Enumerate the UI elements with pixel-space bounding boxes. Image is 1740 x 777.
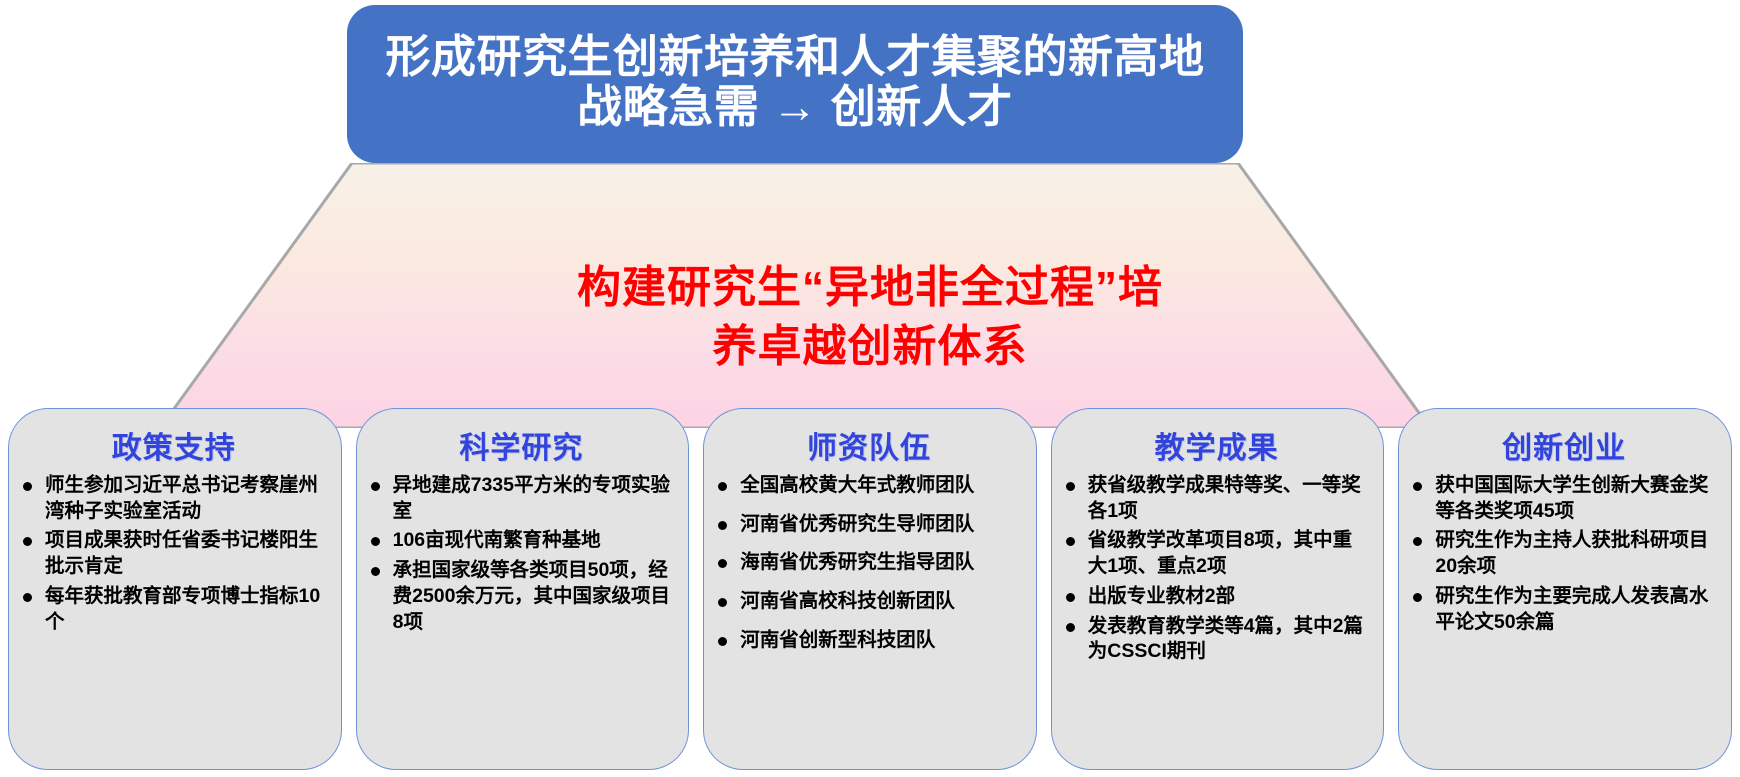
bullet-dot-icon (718, 637, 727, 646)
list-item-text: 获省级教学成果特等奖、一等奖各1项 (1088, 474, 1361, 522)
headline: 构建研究生“异地非全过程”培 养卓越创新体系 (370, 258, 1370, 377)
list-item-text: 每年获批教育部专项博士指标10个 (45, 585, 320, 633)
list-item: 河南省高校科技创新团队 (716, 589, 1022, 615)
list-item: 异地建成7335平方米的专项实验室 (369, 473, 675, 524)
card-policy-support[interactable]: 政策支持 师生参加习近平总书记考察崖州湾种子实验室活动 项目成果获时任省委书记楼… (8, 408, 342, 770)
list-item: 承担国家级等各类项目50项，经费2500余万元，其中国家级项目8项 (369, 558, 675, 635)
list-item: 每年获批教育部专项博士指标10个 (21, 584, 327, 635)
bullet-list: 异地建成7335平方米的专项实验室 106亩现代南繁育种基地 承担国家级等各类项… (369, 473, 675, 639)
list-item-text: 异地建成7335平方米的专项实验室 (393, 474, 670, 522)
list-item: 研究生作为主要完成人发表高水平论文50余篇 (1411, 584, 1717, 635)
bullet-dot-icon (23, 537, 32, 546)
list-item: 出版专业教材2部 (1064, 584, 1370, 610)
bullet-list: 师生参加习近平总书记考察崖州湾种子实验室活动 项目成果获时任省委书记楼阳生批示肯… (21, 473, 327, 639)
list-item: 研究生作为主持人获批科研项目20余项 (1411, 528, 1717, 579)
card-title: 教学成果 (1064, 423, 1370, 467)
list-item-text: 河南省高校科技创新团队 (740, 590, 955, 612)
bullet-dot-icon (1413, 537, 1422, 546)
list-item: 省级教学改革项目8项，其中重大1项、重点2项 (1064, 528, 1370, 579)
card-row: 政策支持 师生参加习近平总书记考察崖州湾种子实验室活动 项目成果获时任省委书记楼… (8, 408, 1732, 770)
list-item-text: 承担国家级等各类项目50项，经费2500余万元，其中国家级项目8项 (393, 559, 670, 632)
bullet-dot-icon (718, 559, 727, 568)
bullet-dot-icon (1413, 593, 1422, 602)
headline-line-2: 养卓越创新体系 (370, 317, 1370, 376)
list-item-text: 项目成果获时任省委书记楼阳生批示肯定 (45, 529, 318, 577)
list-item-text: 研究生作为主持人获批科研项目20余项 (1435, 529, 1708, 577)
list-item-text: 师生参加习近平总书记考察崖州湾种子实验室活动 (45, 474, 318, 522)
banner-line-1: 形成研究生创新培养和人才集聚的新高地 (385, 32, 1204, 82)
list-item: 河南省创新型科技团队 (716, 628, 1022, 654)
headline-line-1: 构建研究生“异地非全过程”培 (370, 258, 1370, 317)
list-item: 全国高校黄大年式教师团队 (716, 473, 1022, 499)
bullet-dot-icon (1066, 482, 1075, 491)
banner-line-2: 战略急需 → 创新人才 (577, 82, 1013, 132)
list-item: 获中国国际大学生创新大赛金奖等各类奖项45项 (1411, 473, 1717, 524)
list-item-text: 研究生作为主要完成人发表高水平论文50余篇 (1435, 585, 1708, 633)
card-title: 政策支持 (21, 423, 327, 467)
bullet-list: 获省级教学成果特等奖、一等奖各1项 省级教学改革项目8项，其中重大1项、重点2项… (1064, 473, 1370, 669)
list-item: 河南省优秀研究生导师团队 (716, 512, 1022, 538)
list-item-text: 106亩现代南繁育种基地 (393, 529, 601, 551)
bullet-dot-icon (1066, 537, 1075, 546)
bullet-list: 获中国国际大学生创新大赛金奖等各类奖项45项 研究生作为主持人获批科研项目20余… (1411, 473, 1717, 639)
card-title: 师资队伍 (716, 423, 1022, 467)
list-item-text: 省级教学改革项目8项，其中重大1项、重点2项 (1088, 529, 1352, 577)
card-scientific-research[interactable]: 科学研究 异地建成7335平方米的专项实验室 106亩现代南繁育种基地 承担国家… (356, 408, 690, 770)
list-item: 获省级教学成果特等奖、一等奖各1项 (1064, 473, 1370, 524)
bullet-dot-icon (371, 537, 380, 546)
card-title: 创新创业 (1411, 423, 1717, 467)
bullet-dot-icon (1066, 623, 1075, 632)
card-faculty-team[interactable]: 师资队伍 全国高校黄大年式教师团队 河南省优秀研究生导师团队 海南省优秀研究生指… (703, 408, 1037, 770)
list-item: 海南省优秀研究生指导团队 (716, 550, 1022, 576)
bullet-dot-icon (23, 482, 32, 491)
list-item-text: 出版专业教材2部 (1088, 585, 1235, 607)
card-teaching-achievements[interactable]: 教学成果 获省级教学成果特等奖、一等奖各1项 省级教学改革项目8项，其中重大1项… (1051, 408, 1385, 770)
list-item: 发表教育教学类等4篇，其中2篇为CSSCI期刊 (1064, 614, 1370, 665)
bullet-dot-icon (718, 482, 727, 491)
bullet-dot-icon (371, 482, 380, 491)
list-item-text: 海南省优秀研究生指导团队 (740, 551, 974, 573)
bullet-dot-icon (718, 598, 727, 607)
bullet-dot-icon (1066, 593, 1075, 602)
list-item: 项目成果获时任省委书记楼阳生批示肯定 (21, 528, 327, 579)
bullet-dot-icon (23, 593, 32, 602)
bullet-list: 全国高校黄大年式教师团队 河南省优秀研究生导师团队 海南省优秀研究生指导团队 河… (716, 473, 1022, 667)
list-item: 106亩现代南繁育种基地 (369, 528, 675, 554)
list-item: 师生参加习近平总书记考察崖州湾种子实验室活动 (21, 473, 327, 524)
bullet-dot-icon (718, 521, 727, 530)
bullet-dot-icon (1413, 482, 1422, 491)
bullet-dot-icon (371, 567, 380, 576)
list-item-text: 全国高校黄大年式教师团队 (740, 474, 974, 496)
list-item-text: 河南省创新型科技团队 (740, 629, 935, 651)
list-item-text: 获中国国际大学生创新大赛金奖等各类奖项45项 (1435, 474, 1708, 522)
card-title: 科学研究 (369, 423, 675, 467)
list-item-text: 河南省优秀研究生导师团队 (740, 513, 974, 535)
card-innovation-entrepreneurship[interactable]: 创新创业 获中国国际大学生创新大赛金奖等各类奖项45项 研究生作为主持人获批科研… (1398, 408, 1732, 770)
title-banner: 形成研究生创新培养和人才集聚的新高地 战略急需 → 创新人才 (347, 5, 1243, 163)
infographic-canvas: 形成研究生创新培养和人才集聚的新高地 战略急需 → 创新人才 构建研究生“异地非… (0, 0, 1740, 777)
list-item-text: 发表教育教学类等4篇，其中2篇为CSSCI期刊 (1088, 615, 1363, 663)
